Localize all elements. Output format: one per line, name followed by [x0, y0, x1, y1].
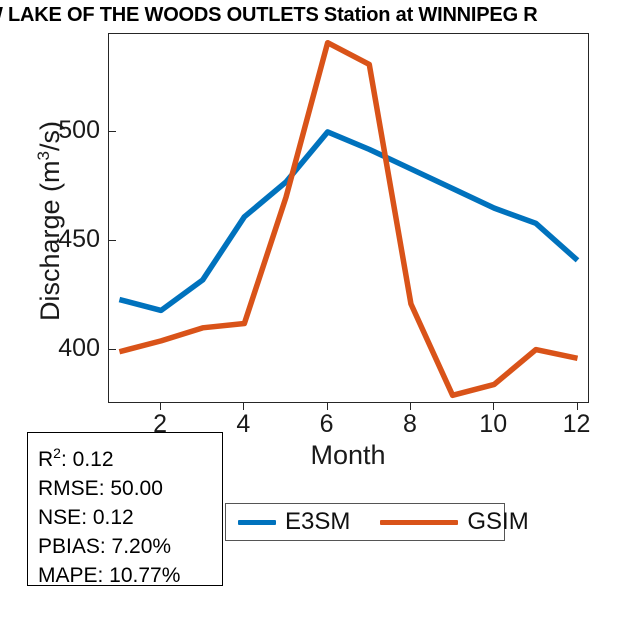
ytick-mark-400 [108, 349, 116, 350]
xtick-label-12: 12 [547, 410, 607, 438]
xtick-label-6: 6 [297, 410, 357, 438]
stat-r2: R2: 0.12 [38, 439, 222, 474]
x-axis-label: Month [238, 440, 458, 471]
chart-legend: E3SM GSIM [225, 503, 505, 541]
stat-r2-value: : 0.12 [61, 448, 114, 471]
stat-r2-exponent: 2 [53, 445, 61, 461]
stat-pbias-key: PBIAS [38, 535, 100, 558]
stat-rmse-value: : 50.00 [99, 477, 163, 500]
xtick-mark-12 [577, 403, 578, 410]
stat-nse-key: NSE [38, 506, 81, 529]
stat-rmse-key: RMSE [38, 477, 99, 500]
y-axis-label-tail: /s) [35, 121, 65, 151]
series-line-e3sm [119, 132, 577, 310]
stat-r2-key: R [38, 448, 53, 471]
xtick-mark-4 [243, 403, 244, 410]
xtick-mark-6 [327, 403, 328, 410]
legend-label-gsim: GSIM [467, 508, 528, 536]
stat-mape-value: : 10.77% [98, 564, 181, 587]
y-axis-label-exponent: 3 [34, 151, 53, 160]
legend-item-e3sm[interactable]: E3SM [238, 508, 350, 536]
ytick-mark-500 [108, 131, 116, 132]
legend-item-gsim[interactable]: GSIM [380, 508, 528, 536]
ytick-mark-450 [108, 240, 116, 241]
stat-nse: NSE: 0.12 [38, 503, 222, 532]
stat-pbias: PBIAS: 7.20% [38, 532, 222, 561]
legend-swatch-gsim [380, 520, 458, 525]
xtick-label-10: 10 [463, 410, 523, 438]
stat-mape: MAPE: 10.77% [38, 561, 222, 590]
plot-svg [109, 34, 589, 403]
stat-rmse: RMSE: 50.00 [38, 474, 222, 503]
xtick-mark-2 [160, 403, 161, 410]
statistics-box: R2: 0.12 RMSE: 50.00 NSE: 0.12 PBIAS: 7.… [27, 432, 223, 586]
y-axis-label: Discharge (m3/s) [34, 21, 66, 421]
chart-title: W LAKE OF THE WOODS OUTLETS Station at W… [0, 0, 625, 30]
legend-label-e3sm: E3SM [285, 508, 350, 536]
stat-nse-value: : 0.12 [81, 506, 134, 529]
xtick-mark-8 [410, 403, 411, 410]
series-line-gsim [119, 43, 577, 396]
plot-area [108, 33, 589, 403]
legend-swatch-e3sm [238, 520, 276, 525]
y-axis-label-main: Discharge (m [35, 160, 65, 321]
xtick-mark-10 [493, 403, 494, 410]
xtick-label-8: 8 [380, 410, 440, 438]
stat-mape-key: MAPE [38, 564, 98, 587]
stat-pbias-value: : 7.20% [100, 535, 171, 558]
